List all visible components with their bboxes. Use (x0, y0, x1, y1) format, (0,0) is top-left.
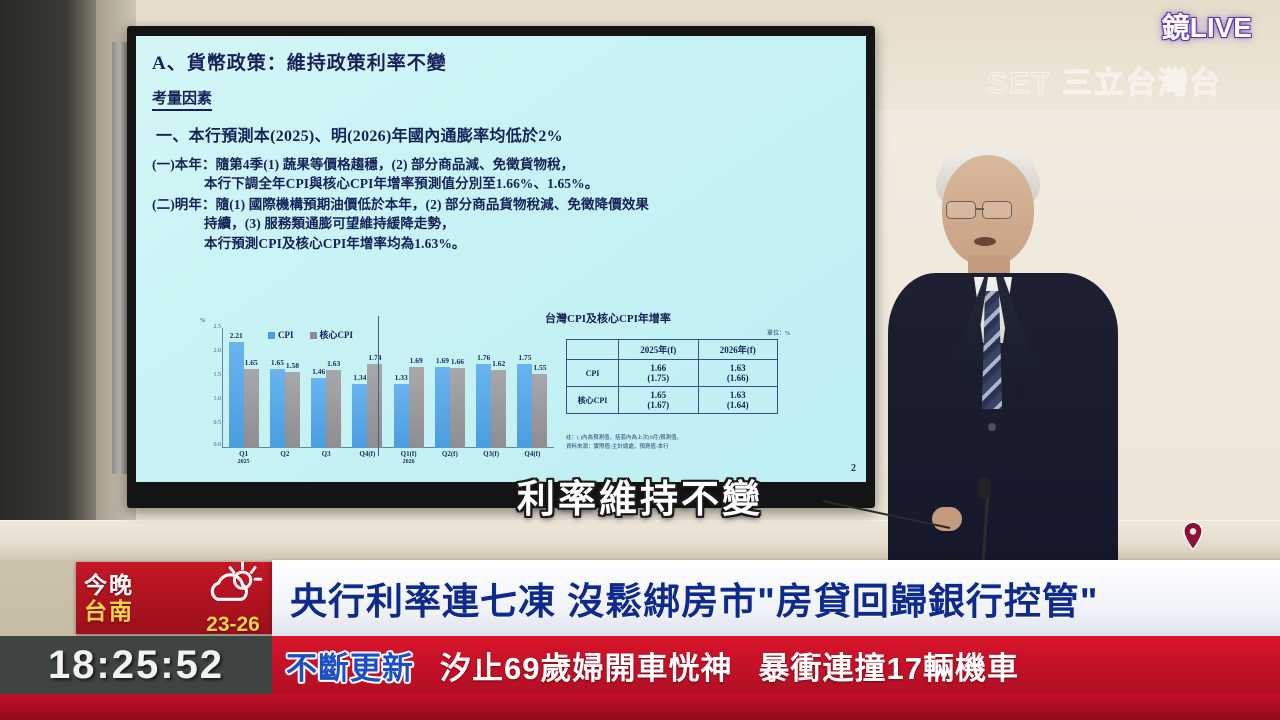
chart-bar-value: 1.46 (312, 367, 325, 376)
chart-ytick: 0.5 (201, 420, 221, 426)
chart-bar-value: 1.63 (327, 359, 340, 368)
footnote-line-1: 註：( )內為預測值，括弧內為上次(9月)預測值。 (566, 434, 816, 443)
table-value: 1.66 (621, 363, 696, 373)
chart-bar-cpi: 1.34 (352, 384, 367, 448)
chart-x-label: Q2 (264, 450, 305, 466)
chart-bar-core-cpi: 1.66 (450, 368, 465, 448)
chart-bar-value: 1.66 (451, 357, 464, 366)
table-value: 1.63 (701, 363, 776, 373)
chart-bar-value: 1.76 (477, 353, 490, 362)
slide-paragraph-a: (一)本年：隨第4季(1) 蔬果等價格趨穩，(2) 部分商品減、免徵貨物稅， 本… (152, 155, 852, 193)
news-ticker-bar: 不斷更新 汐止69歲婦開車恍神 暴衝連撞17輛機車 (272, 636, 1280, 694)
chart-ytick: 1.5 (201, 372, 221, 378)
location-pin-icon (1182, 521, 1204, 551)
slide-para-a-line1: (一)本年：隨第4季(1) 蔬果等價格趨穩，(2) 部分商品減、免徵貨物稅， (152, 157, 574, 172)
chart-bar-core-cpi: 1.69 (409, 367, 424, 448)
table-cell-cpi-2025: 1.66 (1.75) (619, 360, 699, 387)
lower-third: 今晚 台南 23-26 (0, 560, 1280, 720)
chart-x-label: Q4(f) (512, 450, 553, 466)
chart-x-label: Q4(f) (347, 450, 388, 466)
sun-behind-cloud-icon (202, 561, 264, 612)
live-badge: 鏡LIVE (1162, 14, 1252, 42)
chart-bar-core-cpi: 1.74 (367, 364, 382, 448)
table-value: 1.65 (621, 390, 696, 400)
monitor-stand (112, 42, 128, 474)
subtitle-text: 利率維持不變 (0, 468, 1280, 523)
glasses-right-lens-icon (982, 201, 1012, 219)
news-headline-bar: 央行利率連七凍 沒鬆綁房市"房貸回歸銀行控管" (272, 560, 1280, 636)
chart-bar-cpi: 1.33 (394, 384, 409, 448)
weather-widget: 今晚 台南 23-26 (76, 562, 272, 634)
chart-bar-value: 1.34 (353, 373, 366, 382)
chart-bar-value: 1.65 (245, 358, 258, 367)
chart-bar-value: 1.69 (410, 356, 423, 365)
clock-widget: 18:25:52 (0, 636, 272, 694)
cpi-chart: 台灣CPI及核心CPI年增率 % 2.5 2.0 1.5 1.0 0.5 0.0… (198, 324, 558, 474)
chart-x-sublabel: 2025 (223, 459, 264, 467)
chart-bar-core-cpi: 1.58 (285, 372, 300, 448)
chart-bar-value: 2.21 (230, 331, 243, 340)
table-value: 1.63 (701, 390, 776, 400)
chart-bar-value: 1.74 (368, 353, 381, 362)
table-col-2025: 2025年(f) (619, 340, 699, 360)
chart-x-label: Q1(f)2026 (388, 450, 429, 466)
table-row-label-cpi: CPI (567, 360, 619, 387)
slide-point-one: 一、本行預測本(2025)、明(2026)年國內通膨率均低於2% (156, 122, 852, 146)
slide-para-b-line3: 本行預測CPI及核心CPI年增率均為1.63%。 (152, 234, 852, 253)
ticker-bottom-strip (0, 694, 1280, 720)
chart-ytick: 1.0 (201, 396, 221, 402)
slide-paragraph-b: (二)明年：隨(1) 國際機構預期油價低於本年，(2) 部分商品貨物稅減、免徵降… (152, 195, 852, 252)
table-row: CPI 1.66 (1.75) 1.63 (1.66) (567, 360, 778, 387)
table-prev-value: (1.67) (621, 400, 696, 410)
forecast-table-wrap: 單位：% 2025年(f) 2026年(f) CPI 1.66 (1.75) (566, 328, 796, 414)
chart-bar-group: 1.761.62 (471, 328, 512, 448)
chart-bar-cpi: 1.75 (517, 364, 532, 448)
chart-bar-cpi: 1.65 (270, 369, 285, 448)
chart-bar-group: 1.651.58 (264, 328, 305, 448)
chart-x-sublabel: 2026 (388, 459, 429, 467)
presentation-monitor: A、貨幣政策：維持政策利率不變 考量因素 一、本行預測本(2025)、明(202… (127, 26, 875, 508)
table-prev-value: (1.75) (621, 373, 696, 383)
weather-when-label: 今晚 (84, 573, 134, 597)
chart-bar-group: 1.691.66 (429, 328, 470, 448)
weather-temperature-range: 23-26 (206, 614, 260, 635)
ticker-item: 暴衝連撞17輛機車 (758, 643, 1018, 688)
chart-bar-core-cpi: 1.63 (326, 370, 341, 448)
slide-footnote: 註：( )內為預測值，括弧內為上次(9月)預測值。 資料來源：實際值-主計總處，… (566, 434, 816, 452)
person-mouth (974, 237, 996, 246)
chart-bar-value: 1.65 (271, 358, 284, 367)
ticker-item: 汐止69歲婦開車恍神 (440, 643, 732, 688)
chart-x-labels: Q12025Q2Q3Q4(f)Q1(f)2026Q2(f)Q3(f)Q4(f) (223, 450, 553, 466)
chart-title: 台灣CPI及核心CPI年增率 (448, 310, 768, 326)
table-row-label-core-cpi: 核心CPI (567, 387, 619, 414)
chart-bar-value: 1.58 (286, 361, 299, 370)
table-cell-core-2026: 1.63 (1.64) (698, 387, 778, 414)
channel-watermark: SET 三立台灣台 (987, 58, 1222, 102)
presentation-slide: A、貨幣政策：維持政策利率不變 考量因素 一、本行預測本(2025)、明(202… (136, 36, 866, 482)
chart-x-label: Q3 (306, 450, 347, 466)
table-prev-value: (1.64) (701, 400, 776, 410)
table-cell-cpi-2026: 1.63 (1.66) (698, 360, 778, 387)
chart-x-label: Q12025 (223, 450, 264, 466)
chart-bar-value: 1.69 (436, 356, 449, 365)
chart-ytick: 2.0 (201, 348, 221, 354)
table-unit-label: 單位：% (566, 328, 796, 337)
chart-bars: 2.211.651.651.581.461.631.341.741.331.69… (223, 328, 553, 448)
chart-bar-cpi: 2.21 (229, 342, 244, 448)
chart-bar-group: 1.341.74 (347, 328, 388, 448)
chart-bar-cpi: 1.69 (435, 367, 450, 448)
slide-para-a-line2: 本行下調全年CPI與核心CPI年增率預測值分別至1.66%、1.65%。 (152, 174, 852, 193)
slide-para-b-line1: (二)明年：隨(1) 國際機構預期油價低於本年，(2) 部分商品貨物稅減、免徵降… (152, 197, 649, 212)
glasses-bridge (976, 208, 984, 210)
news-headline-text: 央行利率連七凍 沒鬆綁房市"房貸回歸銀行控管" (290, 571, 1098, 625)
chart-bar-group: 1.331.69 (388, 328, 429, 448)
table-col-2026: 2026年(f) (698, 340, 778, 360)
chart-bar-value: 1.75 (518, 353, 531, 362)
chart-bar-value: 1.62 (492, 359, 505, 368)
ticker-badge-updating: 不斷更新 (286, 643, 414, 688)
chart-bar-core-cpi: 1.62 (491, 370, 506, 448)
chart-bar-group: 1.461.63 (306, 328, 347, 448)
chart-x-label: Q3(f) (471, 450, 512, 466)
forecast-table: 2025年(f) 2026年(f) CPI 1.66 (1.75) 1.63 (566, 339, 778, 414)
chart-bar-core-cpi: 1.55 (532, 374, 547, 448)
chart-bar-value: 1.33 (395, 373, 408, 382)
clock-time: 18:25:52 (48, 643, 224, 688)
weather-city-label: 台南 (84, 599, 134, 623)
chart-bar-cpi: 1.46 (311, 378, 326, 448)
chart-bar-cpi: 1.76 (476, 364, 491, 448)
table-row: 核心CPI 1.65 (1.67) 1.63 (1.64) (567, 387, 778, 414)
slide-title: A、貨幣政策：維持政策利率不變 (152, 48, 852, 75)
chart-bar-core-cpi: 1.65 (244, 369, 259, 448)
table-header-row: 2025年(f) 2026年(f) (567, 340, 778, 360)
table-cell-core-2025: 1.65 (1.67) (619, 387, 699, 414)
chart-ytick: 0.0 (201, 442, 221, 448)
chart-year-divider (378, 316, 379, 456)
chart-bar-value: 1.55 (533, 363, 546, 372)
footnote-line-2: 資料來源：實際值-主計總處，預測值-本行 (566, 443, 816, 452)
glasses-left-lens-icon (946, 201, 976, 219)
suit-button (988, 423, 996, 431)
chart-ytick: 2.5 (201, 324, 221, 330)
chart-bar-group: 2.211.65 (223, 328, 264, 448)
broadcast-screen: A、貨幣政策：維持政策利率不變 考量因素 一、本行預測本(2025)、明(202… (0, 0, 1280, 720)
chart-x-label: Q2(f) (429, 450, 470, 466)
table-corner-cell (567, 340, 619, 360)
slide-para-b-line2: 持續，(3) 服務類通膨可望維持緩降走勢， (152, 214, 852, 233)
chart-bar-group: 1.751.55 (512, 328, 553, 448)
table-prev-value: (1.66) (701, 373, 776, 383)
slide-section-heading: 考量因素 (152, 87, 212, 111)
